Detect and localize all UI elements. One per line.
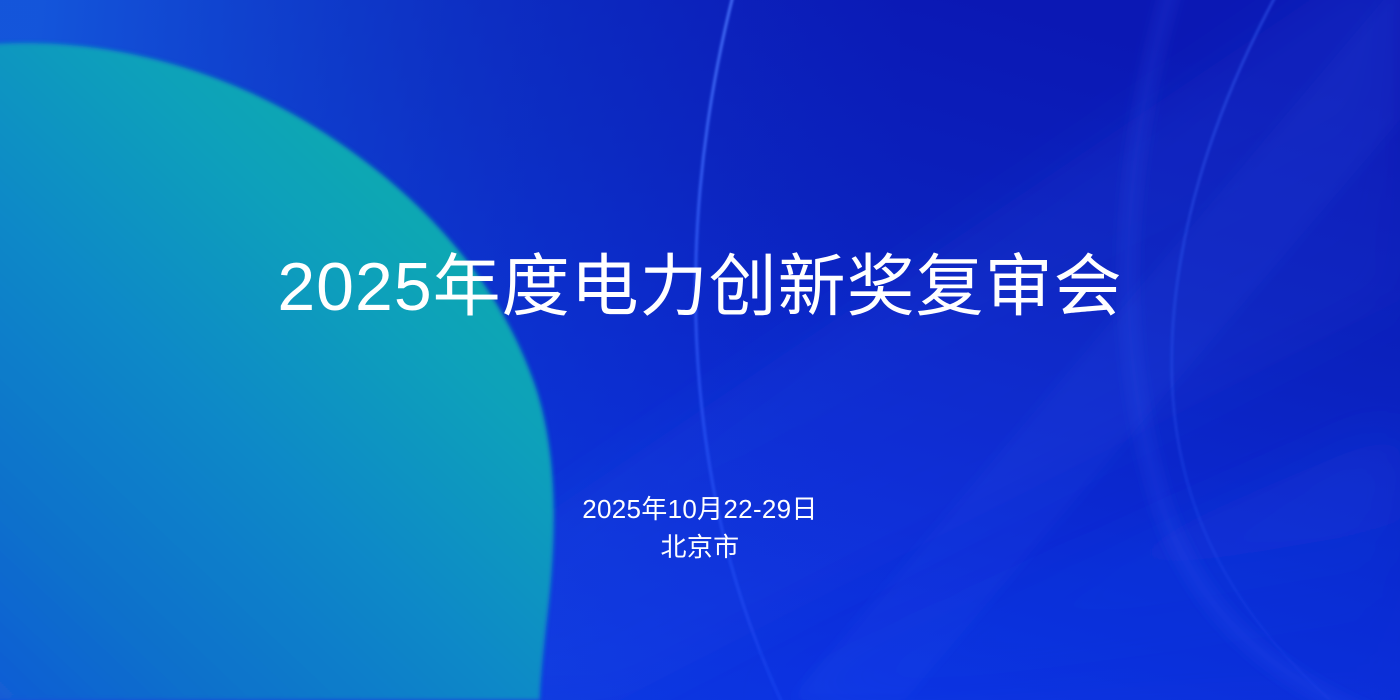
subtitle-location: 北京市 [0, 528, 1400, 566]
slide-subtitle: 2025年10月22-29日 北京市 [0, 490, 1400, 566]
slide-text-layer: 2025年度电力创新奖复审会 2025年10月22-29日 北京市 [0, 0, 1400, 700]
subtitle-date: 2025年10月22-29日 [0, 490, 1400, 528]
presentation-title-slide: 2025年度电力创新奖复审会 2025年10月22-29日 北京市 [0, 0, 1400, 700]
slide-title: 2025年度电力创新奖复审会 [0, 246, 1400, 328]
